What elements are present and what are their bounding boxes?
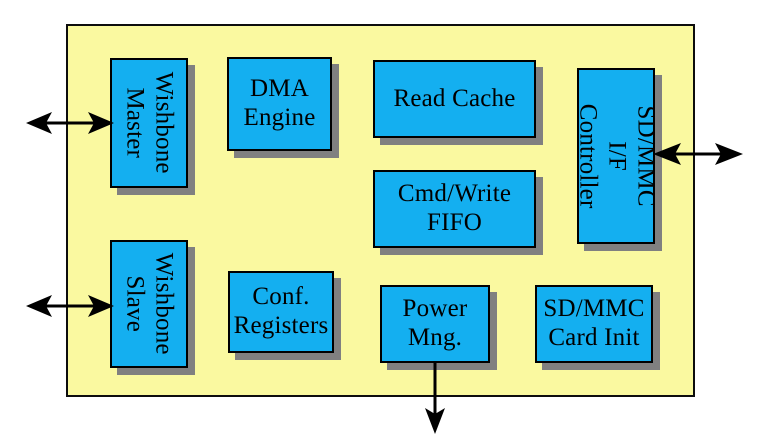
block-sdmmc-card-init-label: SD/MMC Card Init <box>543 295 644 353</box>
connector-sdmmc-card-arrow <box>653 139 743 169</box>
block-read-cache[interactable]: Read Cache <box>373 60 536 138</box>
block-cmd-write-fifo-label: Cmd/Write FIFO <box>398 180 511 238</box>
block-conf-registers-label: Conf. Registers <box>234 283 329 341</box>
block-wishbone-slave[interactable]: Wishbone Slave <box>110 240 188 368</box>
block-power-mng[interactable]: Power Mng. <box>380 285 490 363</box>
block-cmd-write-fifo[interactable]: Cmd/Write FIFO <box>373 170 536 248</box>
block-wishbone-master-label: Wishbone Master <box>120 72 178 174</box>
block-diagram-canvas: Wishbone Master DMA Engine Read Cache SD… <box>0 0 782 442</box>
connector-wishbone-master-bus-arrow <box>26 108 114 138</box>
block-conf-registers[interactable]: Conf. Registers <box>228 271 334 353</box>
block-power-mng-label: Power Mng. <box>403 295 468 353</box>
connector-power-mng-out-arrow <box>424 362 446 434</box>
block-sdmmc-card-init[interactable]: SD/MMC Card Init <box>535 285 653 363</box>
block-sdmmc-if-controller-label: SD/MMC I/F Controller <box>573 104 659 209</box>
connector-wishbone-slave-bus-arrow <box>26 291 114 321</box>
block-wishbone-master[interactable]: Wishbone Master <box>110 58 188 188</box>
block-wishbone-slave-label: Wishbone Slave <box>120 253 178 355</box>
block-dma-engine-label: DMA Engine <box>243 75 315 133</box>
block-dma-engine[interactable]: DMA Engine <box>227 57 332 151</box>
block-sdmmc-if-controller[interactable]: SD/MMC I/F Controller <box>577 68 655 244</box>
block-read-cache-label: Read Cache <box>393 85 515 114</box>
